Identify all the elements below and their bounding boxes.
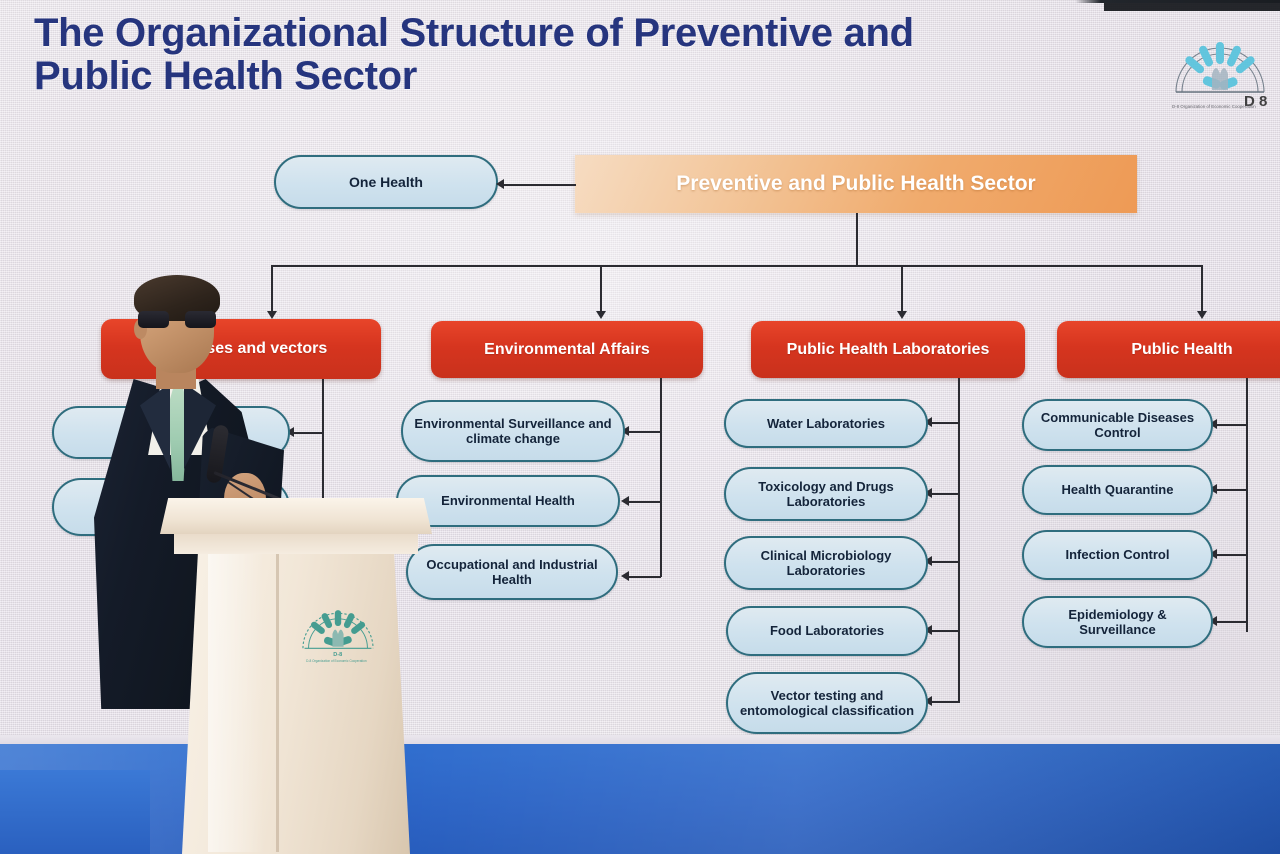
slide-title: The Organizational Structure of Preventi…	[34, 12, 1094, 98]
col2-child-1-label: Environmental Surveillance and climate c…	[411, 416, 615, 447]
col2-child-2-label: Environmental Health	[441, 493, 575, 508]
link-col2-child1	[625, 431, 661, 433]
arrow-col-3-icon	[897, 311, 907, 319]
branch-header-2-label: Environmental Affairs	[484, 341, 650, 359]
link-col4-child4	[1213, 621, 1247, 623]
svg-text:D-8 Organization of Economic C: D-8 Organization of Economic Cooperation	[306, 659, 367, 663]
slide-title-line-1: The Organizational Structure of Preventi…	[34, 11, 914, 55]
diagram-node-col3-child-3[interactable]: Clinical Microbiology Laboratories	[724, 536, 928, 590]
col4-child-1-label: Communicable Diseases Control	[1032, 410, 1203, 441]
diagram-root-label: Preventive and Public Health Sector	[676, 172, 1035, 196]
link-drop-col-4	[1201, 265, 1203, 315]
col3-child-4-label: Food Laboratories	[770, 623, 884, 638]
arrow-col-2-icon	[596, 311, 606, 319]
arrow-col2-child3-icon	[621, 571, 629, 581]
arrow-col2-child2-icon	[621, 496, 629, 506]
link-spine-col-2	[660, 378, 662, 577]
link-spine-col-4	[1246, 378, 1248, 632]
col4-child-3-label: Infection Control	[1066, 547, 1170, 562]
svg-text:D-8 Organization of Economic C: D-8 Organization of Economic Cooperation	[1172, 104, 1256, 109]
link-col4-child3	[1213, 554, 1247, 556]
diagram-node-col4-child-4[interactable]: Epidemiology & Surveillance	[1022, 596, 1213, 648]
diagram-node-one-health[interactable]: One Health	[274, 155, 498, 209]
diagram-branch-header-4[interactable]: Public Health	[1057, 321, 1280, 378]
svg-text:D-8: D-8	[333, 652, 342, 658]
podium-d8-logo-icon: D-8 D-8 Organization of Economic Coopera…	[295, 588, 381, 664]
link-col4-child2	[1213, 489, 1247, 491]
link-col2-child2	[625, 501, 661, 503]
link-distribution-bus	[271, 265, 1201, 267]
link-col3-child4	[928, 630, 960, 632]
branch-header-4-label: Public Health	[1131, 341, 1232, 359]
col2-child-3-label: Occupational and Industrial Health	[416, 557, 608, 588]
link-col3-child3	[928, 561, 960, 563]
col4-child-4-label: Epidemiology & Surveillance	[1032, 607, 1203, 638]
podium-highlight	[208, 554, 264, 852]
diagram-branch-header-3[interactable]: Public Health Laboratories	[751, 321, 1025, 378]
col3-child-3-label: Clinical Microbiology Laboratories	[734, 548, 918, 579]
diagram-node-col4-child-2[interactable]: Health Quarantine	[1022, 465, 1213, 515]
arrow-to-one-health-icon	[496, 179, 504, 189]
screen-frame-edge	[0, 0, 1280, 3]
col4-child-2-label: Health Quarantine	[1062, 482, 1174, 497]
podium-top	[160, 498, 432, 534]
link-root-drop	[856, 213, 858, 266]
link-spine-col-3	[958, 378, 960, 703]
sunglasses-icon	[138, 311, 216, 329]
link-drop-col-2	[600, 265, 602, 315]
link-root-to-one-health	[500, 184, 576, 186]
col3-child-1-label: Water Laboratories	[767, 416, 885, 431]
diagram-node-col3-child-1[interactable]: Water Laboratories	[724, 399, 928, 448]
diagram-root-node[interactable]: Preventive and Public Health Sector	[575, 155, 1137, 213]
d8-logo-icon: D 8 D-8 Organization of Economic Coopera…	[1166, 18, 1274, 110]
arrow-col-4-icon	[1197, 311, 1207, 319]
diagram-branch-header-2[interactable]: Environmental Affairs	[431, 321, 703, 378]
link-col3-child1	[928, 422, 960, 424]
col3-child-5-label: Vector testing and entomological classif…	[736, 688, 918, 719]
diagram-node-col3-child-4[interactable]: Food Laboratories	[726, 606, 928, 656]
link-col3-child5	[928, 701, 960, 703]
branch-header-3-label: Public Health Laboratories	[787, 341, 990, 359]
podium	[160, 498, 432, 854]
podium-edge	[276, 554, 279, 852]
conference-photo-scene: The Organizational Structure of Preventi…	[0, 0, 1280, 854]
one-health-label: One Health	[349, 174, 423, 191]
diagram-node-col2-child-1[interactable]: Environmental Surveillance and climate c…	[401, 400, 625, 462]
podium-neck	[174, 532, 418, 554]
link-col4-child1	[1213, 424, 1247, 426]
col3-child-2-label: Toxicology and Drugs Laboratories	[734, 479, 918, 510]
diagram-node-col3-child-5[interactable]: Vector testing and entomological classif…	[726, 672, 928, 734]
link-col3-child2	[928, 493, 960, 495]
link-spine-col-1	[322, 379, 324, 509]
slide-title-line-2: Public Health Sector	[34, 55, 1094, 98]
link-drop-col-3	[901, 265, 903, 315]
diagram-node-col2-child-3[interactable]: Occupational and Industrial Health	[406, 544, 618, 600]
diagram-node-col4-child-3[interactable]: Infection Control	[1022, 530, 1213, 580]
link-col2-child3	[625, 576, 661, 578]
diagram-node-col4-child-1[interactable]: Communicable Diseases Control	[1022, 399, 1213, 451]
diagram-node-col3-child-2[interactable]: Toxicology and Drugs Laboratories	[724, 467, 928, 521]
